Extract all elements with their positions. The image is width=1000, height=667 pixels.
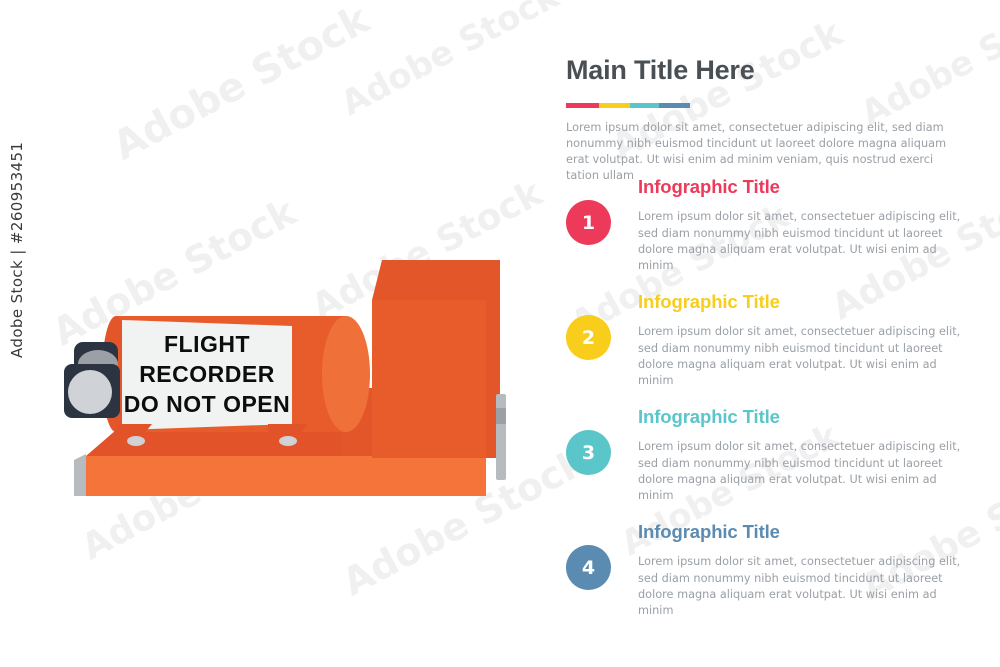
item-title-1: Infographic Title <box>638 176 966 198</box>
page-title: Main Title Here <box>566 56 966 86</box>
beacon-lower-lens <box>68 370 112 414</box>
label-line-3: DO NOT OPEN <box>124 391 291 417</box>
list-item[interactable]: 1 Infographic Title Lorem ipsum dolor si… <box>566 176 966 291</box>
infographic-items-list: 1 Infographic Title Lorem ipsum dolor si… <box>566 176 966 636</box>
recorder-right-block-front <box>372 300 486 458</box>
item-number-label: 2 <box>582 327 595 349</box>
item-body: Infographic Title Lorem ipsum dolor sit … <box>638 291 966 400</box>
flight-recorder-svg: FLIGHT RECORDER DO NOT OPEN <box>60 248 530 510</box>
item-number-badge-3[interactable]: 3 <box>566 430 611 475</box>
watermark-tile: Adobe Stock <box>335 0 566 124</box>
base-left-metal-bracket <box>74 454 86 496</box>
item-number-label: 4 <box>582 557 595 579</box>
watermark-tile: Adobe Stock <box>106 0 377 170</box>
item-number-badge-4[interactable]: 4 <box>566 545 611 590</box>
label-line-2: RECORDER <box>139 361 275 387</box>
infographic-canvas: Adobe Stock Adobe Stock Adobe Stock Adob… <box>0 0 1000 667</box>
item-body: Infographic Title Lorem ipsum dolor sit … <box>638 176 966 285</box>
flight-recorder-illustration: FLIGHT RECORDER DO NOT OPEN <box>60 248 530 510</box>
header-description: Lorem ipsum dolor sit amet, consectetuer… <box>566 120 958 184</box>
item-number-badge-1[interactable]: 1 <box>566 200 611 245</box>
item-title-2: Infographic Title <box>638 291 966 313</box>
item-number-badge-2[interactable]: 2 <box>566 315 611 360</box>
header-block: Main Title Here Lorem ipsum dolor sit am… <box>566 56 966 195</box>
item-description-1: Lorem ipsum dolor sit amet, consectetuer… <box>638 209 966 273</box>
item-title-3: Infographic Title <box>638 406 966 428</box>
item-body: Infographic Title Lorem ipsum dolor sit … <box>638 406 966 515</box>
item-number-label: 3 <box>582 442 595 464</box>
right-metal-rail <box>496 394 506 480</box>
accent-segment-3 <box>630 103 659 108</box>
list-item[interactable]: 4 Infographic Title Lorem ipsum dolor si… <box>566 521 966 636</box>
stock-watermark-text: Adobe Stock | #260953451 <box>8 58 26 358</box>
accent-segment-2 <box>599 103 630 108</box>
recorder-cylinder-cap <box>322 316 370 432</box>
accent-divider-bar <box>566 103 690 108</box>
mount-bolt-left <box>127 436 145 446</box>
list-item[interactable]: 2 Infographic Title Lorem ipsum dolor si… <box>566 291 966 406</box>
item-description-3: Lorem ipsum dolor sit amet, consectetuer… <box>638 439 966 503</box>
mount-bolt-right <box>279 436 297 446</box>
item-description-2: Lorem ipsum dolor sit amet, consectetuer… <box>638 324 966 388</box>
accent-segment-4 <box>659 103 690 108</box>
right-metal-rail-shadow <box>496 408 506 424</box>
accent-segment-1 <box>566 103 599 108</box>
item-number-label: 1 <box>582 212 595 234</box>
list-item[interactable]: 3 Infographic Title Lorem ipsum dolor si… <box>566 406 966 521</box>
item-description-4: Lorem ipsum dolor sit amet, consectetuer… <box>638 554 966 618</box>
item-title-4: Infographic Title <box>638 521 966 543</box>
base-plate <box>86 456 486 496</box>
item-body: Infographic Title Lorem ipsum dolor sit … <box>638 521 966 630</box>
recorder-right-block-top <box>372 260 500 300</box>
label-line-1: FLIGHT <box>164 331 250 357</box>
